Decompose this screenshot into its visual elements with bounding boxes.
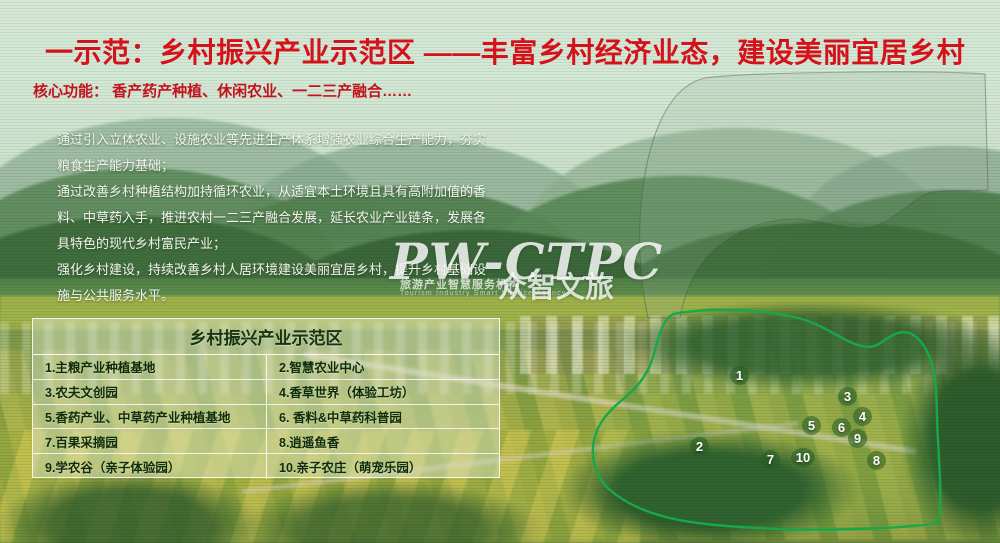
planning-area-overlay [630,70,1000,325]
map-marker-4[interactable]: 4 [853,407,872,426]
demonstration-zone-boundary [580,290,1000,543]
map-marker-9[interactable]: 9 [848,429,867,448]
legend-item-9[interactable]: 9.学农谷（亲子体验园） [33,454,266,479]
core-function-subtitle: 核心功能： 香产药产种植、休闲农业、一二三产融合…… [33,80,412,101]
legend-item-5[interactable]: 5.香药产业、中草药产业种植基地 [33,405,266,430]
map-marker-10[interactable]: 10 [791,448,815,467]
map-marker-5[interactable]: 5 [802,416,821,435]
page-title: 一示范：乡村振兴产业示范区 ——丰富乡村经济业态，建设美丽宜居乡村 [45,31,965,71]
slide-canvas: 一示范：乡村振兴产业示范区 ——丰富乡村经济业态，建设美丽宜居乡村 核心功能： … [0,0,1000,543]
description-paragraph-2: 通过改善乡村种植结构加持循环农业，从适宜本土环境且具有高附加值的香料、中草药入手… [57,179,487,257]
legend-item-10[interactable]: 10.亲子农庄（萌宠乐园） [266,454,499,479]
legend-item-2[interactable]: 2.智慧农业中心 [266,355,499,380]
legend-panel: 乡村振兴产业示范区 1.主粮产业种植基地 2.智慧农业中心 3.农夫文创园 4.… [32,318,500,478]
legend-item-7[interactable]: 7.百果采摘园 [33,429,266,454]
map-marker-2[interactable]: 2 [690,437,709,456]
legend-item-4[interactable]: 4.香草世界（体验工坊） [266,380,499,405]
legend-item-8[interactable]: 8.逍遥鱼香 [266,429,499,454]
map-marker-8[interactable]: 8 [867,451,886,470]
map-marker-1[interactable]: 1 [730,366,749,385]
legend-title: 乡村振兴产业示范区 [33,319,499,355]
legend-grid: 1.主粮产业种植基地 2.智慧农业中心 3.农夫文创园 4.香草世界（体验工坊）… [33,355,499,479]
description-paragraph-3: 强化乡村建设，持续改善乡村人居环境建设美丽宜居乡村，提升乡村基础设施与公共服务水… [57,257,487,309]
map-marker-3[interactable]: 3 [838,387,857,406]
legend-item-1[interactable]: 1.主粮产业种植基地 [33,355,266,380]
description-paragraph-1: 通过引入立体农业、设施农业等先进生产体系增强农业综合生产能力，夯实粮食生产能力基… [57,127,487,179]
legend-item-3[interactable]: 3.农夫文创园 [33,380,266,405]
legend-item-6[interactable]: 6. 香料&中草药科普园 [266,405,499,430]
description-text-block: 通过引入立体农业、设施农业等先进生产体系增强农业综合生产能力，夯实粮食生产能力基… [57,127,487,309]
map-marker-7[interactable]: 7 [761,450,780,469]
